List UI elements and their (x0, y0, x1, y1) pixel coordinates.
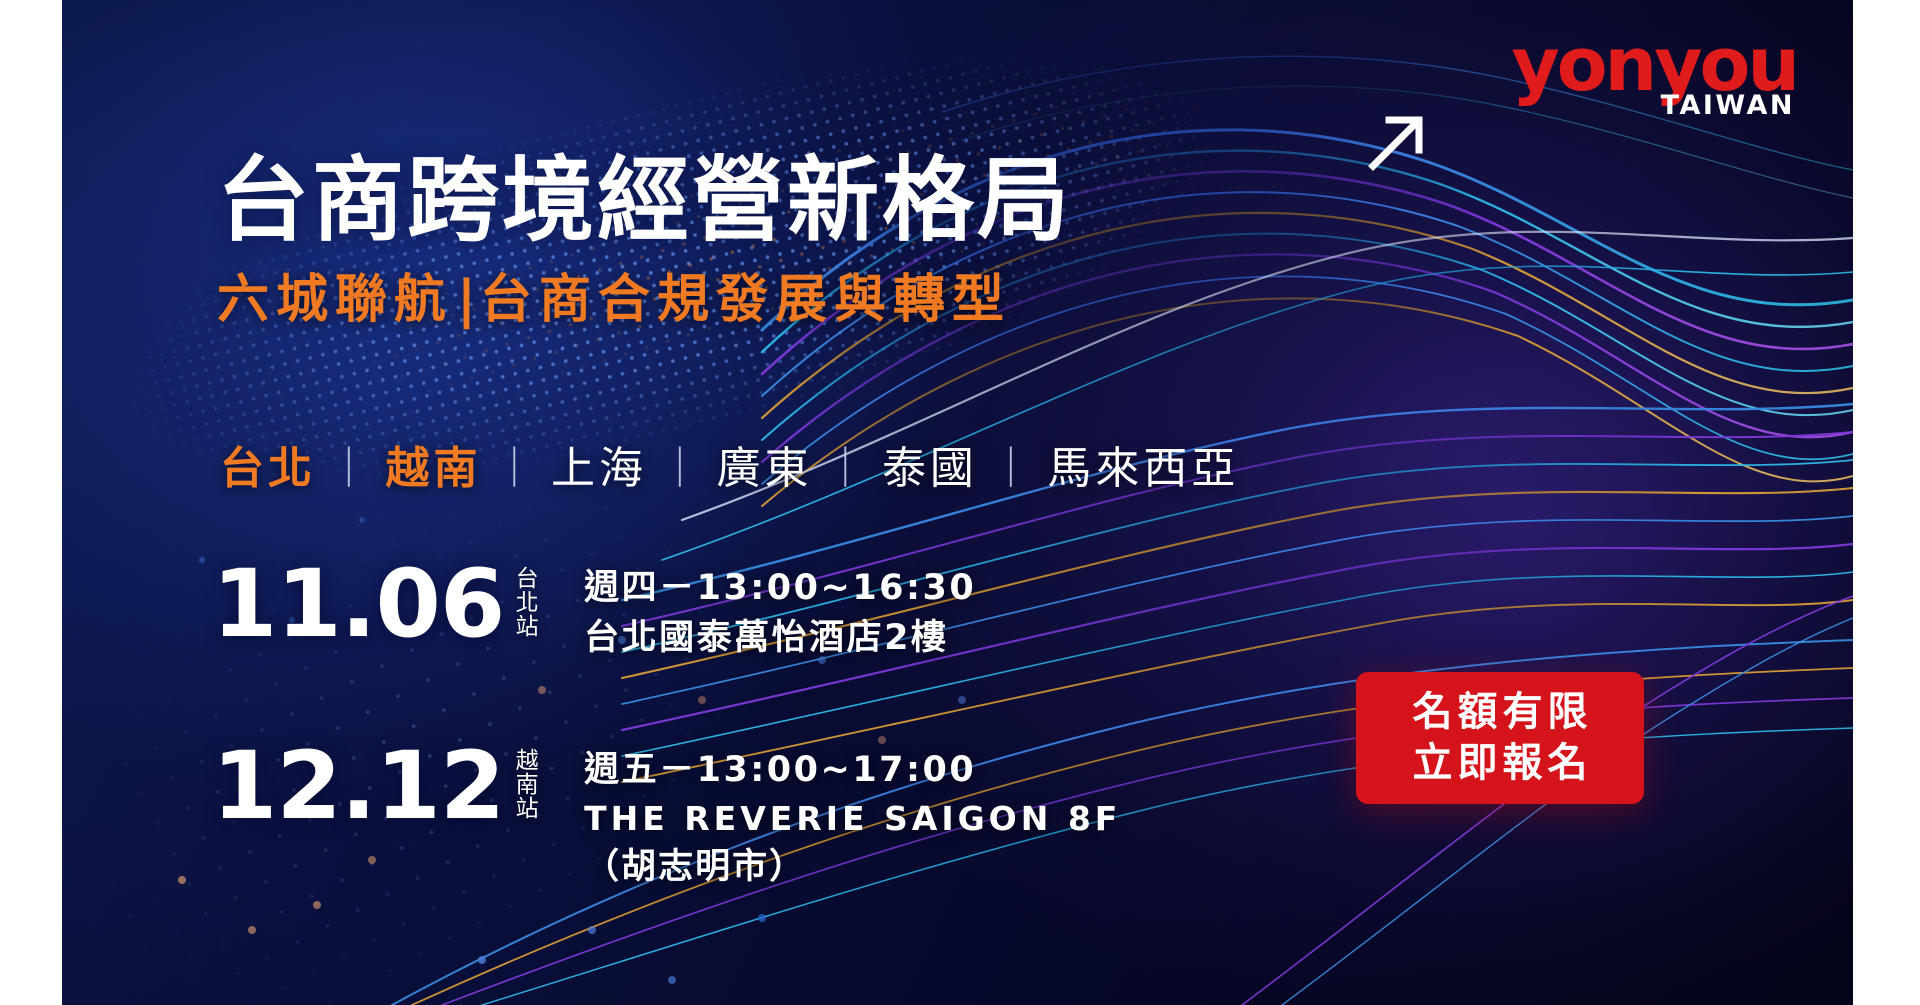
event-venue: THE REVERIE SAIGON 8F (584, 796, 1121, 843)
event-date: 11.06 (212, 560, 504, 650)
subtitle-left: 六城聯航 (217, 270, 453, 330)
event-venue: 台北國泰萬怡酒店2樓 (584, 614, 976, 664)
city-item: 台北 (220, 432, 316, 496)
city-separator: | (647, 441, 716, 487)
city-separator: | (481, 441, 550, 487)
event-date: 12.12 (212, 742, 504, 832)
event-details: 週四－13:00~16:30 台北國泰萬怡酒店2樓 (584, 564, 976, 663)
subtitle-separator: | (453, 270, 480, 330)
cta-line-1: 名額有限 (1408, 687, 1593, 738)
poster-page: yonyou TAIWAN 台商跨境經營新格局 六城聯航|台商合規發展與轉型 台… (0, 0, 1920, 1005)
city-item: 廣東 (716, 432, 812, 496)
event-row: 11.06 台北站 週四－13:00~16:30 台北國泰萬怡酒店2樓 (212, 560, 976, 663)
subtitle-right: 台商合規發展與轉型 (480, 270, 1011, 330)
logo-wordmark: yonyou (1507, 34, 1797, 98)
event-banner: yonyou TAIWAN 台商跨境經營新格局 六城聯航|台商合規發展與轉型 台… (62, 0, 1853, 1005)
event-time: 週五－13:00~17:00 (584, 746, 1121, 796)
city-item: 上海 (551, 432, 647, 496)
city-separator: | (316, 441, 385, 487)
event-details: 週五－13:00~17:00 THE REVERIE SAIGON 8F （胡志… (584, 746, 1121, 892)
event-row: 12.12 越南站 週五－13:00~17:00 THE REVERIE SAI… (212, 742, 1121, 892)
event-station-label: 越南站 (510, 748, 536, 820)
page-subtitle: 六城聯航|台商合規發展與轉型 (217, 272, 1467, 329)
event-time: 週四－13:00~16:30 (584, 564, 976, 614)
headline-block: 台商跨境經營新格局 六城聯航|台商合規發展與轉型 (217, 152, 1467, 329)
event-station-label: 台北站 (510, 566, 536, 638)
register-cta-button[interactable]: 名額有限 立即報名 (1356, 672, 1644, 804)
page-title: 台商跨境經營新格局 (217, 152, 1467, 250)
city-item: 馬來西亞 (1047, 432, 1239, 496)
cta-line-2: 立即報名 (1408, 738, 1593, 789)
city-list: 台北|越南|上海|廣東|泰國|馬來西亞 (220, 432, 1239, 496)
city-item: 泰國 (882, 432, 978, 496)
brand-logo[interactable]: yonyou TAIWAN (1507, 34, 1797, 119)
city-item: 越南 (385, 432, 481, 496)
city-separator: | (812, 441, 881, 487)
city-separator: | (978, 441, 1047, 487)
event-venue-city: （胡志明市） (584, 843, 1121, 893)
